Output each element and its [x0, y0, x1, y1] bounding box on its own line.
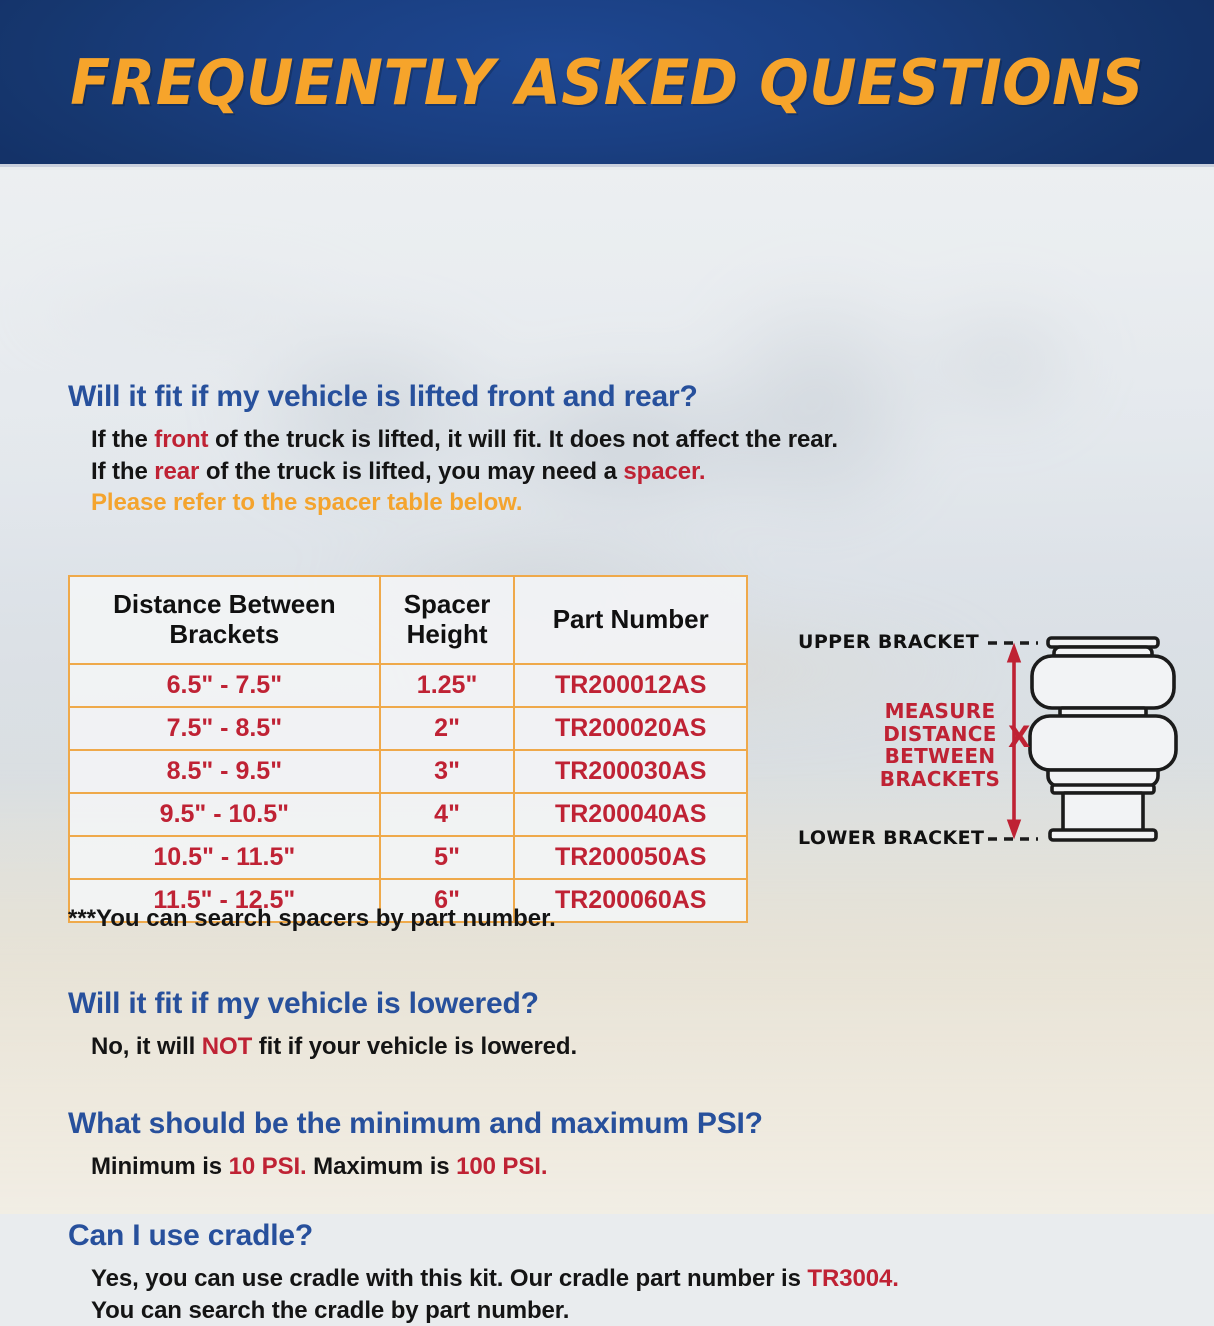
dimension-x-label: X	[1008, 720, 1030, 754]
answer-text-run: Maximum is	[307, 1153, 457, 1180]
answer-text-run: NOT	[202, 1033, 252, 1060]
measure-label-line: BETWEEN	[860, 745, 1020, 768]
cell-distance: 9.5" - 10.5"	[69, 793, 380, 836]
spacer-table-head: Distance Between Brackets Spacer Height …	[69, 576, 747, 664]
upper-bracket-label: UPPER BRACKET	[798, 631, 979, 653]
answer-text-run: Yes, you can use cradle with this kit. O…	[91, 1265, 807, 1292]
cell-spacer-height: 5"	[380, 836, 515, 879]
header-banner: FREQUENTLY ASKED QUESTIONS	[0, 0, 1214, 167]
measure-label-line: MEASURE	[860, 700, 1020, 723]
cell-distance: 7.5" - 8.5"	[69, 707, 380, 750]
faq-answer-cradle: Yes, you can use cradle with this kit. O…	[68, 1263, 899, 1326]
cell-spacer-height: 3"	[380, 750, 515, 793]
faq-answer-line: If the rear of the truck is lifted, you …	[91, 456, 838, 488]
table-row: 9.5" - 10.5"4"TR200040AS	[69, 793, 747, 836]
table-row: 7.5" - 8.5"2"TR200020AS	[69, 707, 747, 750]
cell-spacer-height: 2"	[380, 707, 515, 750]
cell-distance: 8.5" - 9.5"	[69, 750, 380, 793]
answer-text-run: Please refer to the spacer table below.	[91, 489, 522, 516]
faq-answer-line: No, it will NOT fit if your vehicle is l…	[91, 1031, 577, 1063]
cell-distance: 6.5" - 7.5"	[69, 664, 380, 707]
page-title: FREQUENTLY ASKED QUESTIONS	[70, 46, 1144, 119]
faq-answer-line: Yes, you can use cradle with this kit. O…	[91, 1263, 899, 1295]
faq-question-lowered: Will it fit if my vehicle is lowered?	[68, 987, 577, 1021]
answer-text-run: If the	[91, 458, 154, 485]
column-header-part-number: Part Number	[514, 576, 747, 664]
faq-answer-line: You can search the cradle by part number…	[91, 1295, 899, 1326]
answer-text-run: If the	[91, 426, 154, 453]
faq-answer-line: If the front of the truck is lifted, it …	[91, 424, 838, 456]
faq-item-lifted-front-rear: Will it fit if my vehicle is lifted fron…	[68, 380, 838, 519]
measure-distance-label: MEASUREDISTANCEBETWEENBRACKETS	[860, 700, 1020, 790]
faq-answer-line: Minimum is 10 PSI. Maximum is 100 PSI.	[91, 1151, 763, 1183]
answer-text-run: of the truck is lifted, you may need a	[199, 458, 623, 485]
answer-text-run: rear	[154, 458, 199, 485]
answer-text-run: No, it will	[91, 1033, 202, 1060]
faq-item-cradle: Can I use cradle? Yes, you can use cradl…	[68, 1219, 899, 1326]
faq-answer-lifted-front-rear: If the front of the truck is lifted, it …	[68, 424, 838, 519]
air-spring-body	[1030, 638, 1176, 840]
measure-label-line: BRACKETS	[860, 768, 1020, 791]
spacer-table-note: ***You can search spacers by part number…	[68, 905, 556, 933]
answer-text-run: 10 PSI.	[229, 1153, 307, 1180]
faq-item-lowered: Will it fit if my vehicle is lowered? No…	[68, 987, 577, 1063]
measurement-diagram: UPPER BRACKET LOWER BRACKET MEASUREDISTA…	[780, 622, 1214, 862]
answer-text-run: You can search the cradle by part number…	[91, 1297, 569, 1324]
answer-text-run: front	[154, 426, 208, 453]
cell-part-number: TR200050AS	[514, 836, 747, 879]
answer-text-run: of the truck is lifted, it will fit. It …	[208, 426, 837, 453]
answer-text-run: TR3004.	[807, 1265, 898, 1292]
cell-part-number: TR200030AS	[514, 750, 747, 793]
cell-part-number: TR200020AS	[514, 707, 747, 750]
answer-text-run: 100 PSI.	[456, 1153, 547, 1180]
column-header-distance: Distance Between Brackets	[69, 576, 380, 664]
cell-spacer-height: 1.25"	[380, 664, 515, 707]
faq-question-psi: What should be the minimum and maximum P…	[68, 1107, 763, 1141]
faq-answer-psi: Minimum is 10 PSI. Maximum is 100 PSI.	[68, 1151, 763, 1183]
table-row: 8.5" - 9.5"3"TR200030AS	[69, 750, 747, 793]
cell-distance: 10.5" - 11.5"	[69, 836, 380, 879]
faq-answer-lowered: No, it will NOT fit if your vehicle is l…	[68, 1031, 577, 1063]
answer-text-run: spacer.	[623, 458, 705, 485]
cell-part-number: TR200012AS	[514, 664, 747, 707]
spacer-table: Distance Between Brackets Spacer Height …	[68, 575, 748, 923]
faq-answer-line: Please refer to the spacer table below.	[91, 487, 838, 519]
measure-label-line: DISTANCE	[860, 723, 1020, 746]
answer-text-run: Minimum is	[91, 1153, 229, 1180]
faq-question-cradle: Can I use cradle?	[68, 1219, 899, 1253]
lower-bracket-label: LOWER BRACKET	[798, 827, 984, 849]
answer-text-run: fit if your vehicle is lowered.	[252, 1033, 577, 1060]
table-row: 6.5" - 7.5"1.25"TR200012AS	[69, 664, 747, 707]
cell-spacer-height: 4"	[380, 793, 515, 836]
table-row: 10.5" - 11.5"5"TR200050AS	[69, 836, 747, 879]
faq-item-psi: What should be the minimum and maximum P…	[68, 1107, 763, 1183]
spacer-table-body: 6.5" - 7.5"1.25"TR200012AS7.5" - 8.5"2"T…	[69, 664, 747, 922]
cell-part-number: TR200040AS	[514, 793, 747, 836]
faq-question-lifted-front-rear: Will it fit if my vehicle is lifted fron…	[68, 380, 838, 414]
column-header-spacer-height: Spacer Height	[380, 576, 515, 664]
spacer-table-header-row: Distance Between Brackets Spacer Height …	[69, 576, 747, 664]
